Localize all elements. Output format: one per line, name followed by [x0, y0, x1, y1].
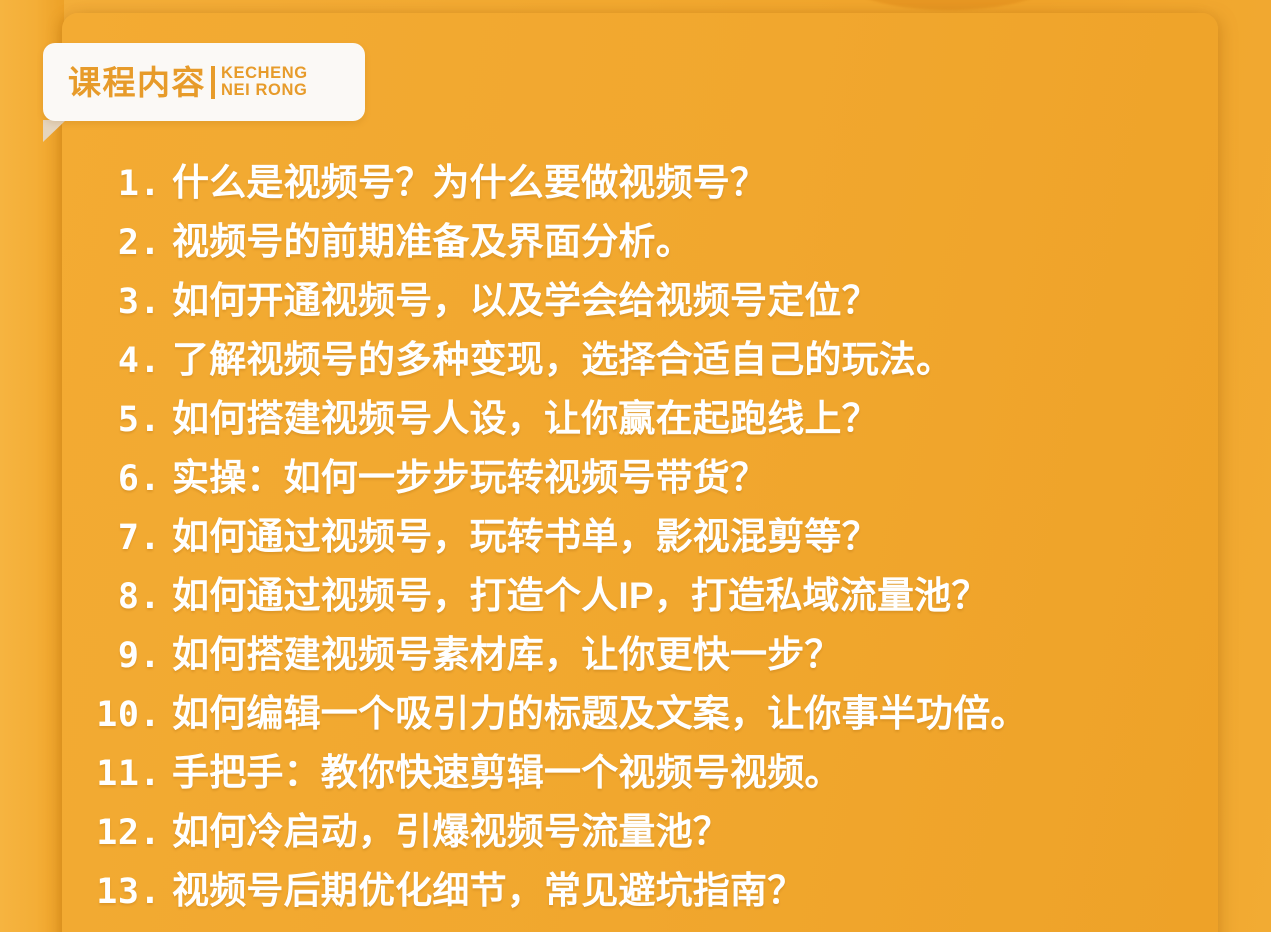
list-item[interactable]: 2.视频号的前期准备及界面分析。 — [62, 211, 1218, 270]
list-item-number: 1. — [62, 164, 172, 204]
list-item-number: 5. — [62, 400, 172, 440]
list-item-text: 视频号后期优化细节，常见避坑指南？ — [172, 860, 1218, 914]
course-list: 1.什么是视频号？为什么要做视频号？2.视频号的前期准备及界面分析。3.如何开通… — [62, 152, 1218, 919]
list-item-number: 11. — [62, 754, 172, 794]
list-item[interactable]: 11.手把手：教你快速剪辑一个视频号视频。 — [62, 742, 1218, 801]
badge-subtitle-en: KECHENG NEI RONG — [221, 65, 308, 99]
list-item-number: 6. — [62, 459, 172, 499]
list-item[interactable]: 4.了解视频号的多种变现，选择合适自己的玩法。 — [62, 329, 1218, 388]
list-item[interactable]: 13.视频号后期优化细节，常见避坑指南？ — [62, 860, 1218, 919]
list-item[interactable]: 9.如何搭建视频号素材库，让你更快一步？ — [62, 624, 1218, 683]
content-card: 课程内容 KECHENG NEI RONG 1.什么是视频号？为什么要做视频号？… — [62, 13, 1218, 932]
badge-subtitle-line1: KECHENG — [221, 65, 308, 82]
list-item-text: 如何编辑一个吸引力的标题及文案，让你事半功倍。 — [172, 683, 1218, 737]
badge-divider-bar — [211, 66, 215, 99]
list-item-number: 3. — [62, 282, 172, 322]
list-item-text: 如何通过视频号，打造个人IP，打造私域流量池？ — [172, 565, 1218, 619]
list-item-number: 7. — [62, 518, 172, 558]
list-item-text: 如何搭建视频号人设，让你赢在起跑线上？ — [172, 388, 1218, 442]
list-item-number: 4. — [62, 341, 172, 381]
list-item-number: 8. — [62, 577, 172, 617]
list-item[interactable]: 7.如何通过视频号，玩转书单，影视混剪等？ — [62, 506, 1218, 565]
list-item-number: 13. — [62, 872, 172, 912]
list-item[interactable]: 12.如何冷启动，引爆视频号流量池？ — [62, 801, 1218, 860]
list-item-text: 视频号的前期准备及界面分析。 — [172, 211, 1218, 265]
list-item[interactable]: 6.实操：如何一步步玩转视频号带货？ — [62, 447, 1218, 506]
list-item-text: 了解视频号的多种变现，选择合适自己的玩法。 — [172, 329, 1218, 383]
list-item[interactable]: 5.如何搭建视频号人设，让你赢在起跑线上？ — [62, 388, 1218, 447]
list-item-text: 什么是视频号？为什么要做视频号？ — [172, 152, 1218, 206]
list-item-text: 如何开通视频号，以及学会给视频号定位？ — [172, 270, 1218, 324]
badge-body: 课程内容 KECHENG NEI RONG — [43, 43, 365, 121]
section-header-badge: 课程内容 KECHENG NEI RONG — [43, 43, 365, 121]
list-item[interactable]: 1.什么是视频号？为什么要做视频号？ — [62, 152, 1218, 211]
list-item-text: 如何搭建视频号素材库，让你更快一步？ — [172, 624, 1218, 678]
badge-title-cn: 课程内容 — [68, 66, 206, 99]
list-item-text: 如何冷启动，引爆视频号流量池？ — [172, 801, 1218, 855]
list-item[interactable]: 8.如何通过视频号，打造个人IP，打造私域流量池？ — [62, 565, 1218, 624]
list-item[interactable]: 3.如何开通视频号，以及学会给视频号定位？ — [62, 270, 1218, 329]
list-item-number: 9. — [62, 636, 172, 676]
list-item[interactable]: 10.如何编辑一个吸引力的标题及文案，让你事半功倍。 — [62, 683, 1218, 742]
list-item-text: 如何通过视频号，玩转书单，影视混剪等？ — [172, 506, 1218, 560]
poster-page: 课程内容 KECHENG NEI RONG 1.什么是视频号？为什么要做视频号？… — [0, 0, 1271, 932]
list-item-text: 手把手：教你快速剪辑一个视频号视频。 — [172, 742, 1218, 796]
list-item-number: 12. — [62, 813, 172, 853]
badge-tail-shape — [43, 120, 66, 142]
list-item-number: 10. — [62, 695, 172, 735]
top-decorative-ellipse — [843, 0, 1055, 10]
badge-subtitle-line2: NEI RONG — [221, 82, 308, 99]
list-item-text: 实操：如何一步步玩转视频号带货？ — [172, 447, 1218, 501]
list-item-number: 2. — [62, 223, 172, 263]
